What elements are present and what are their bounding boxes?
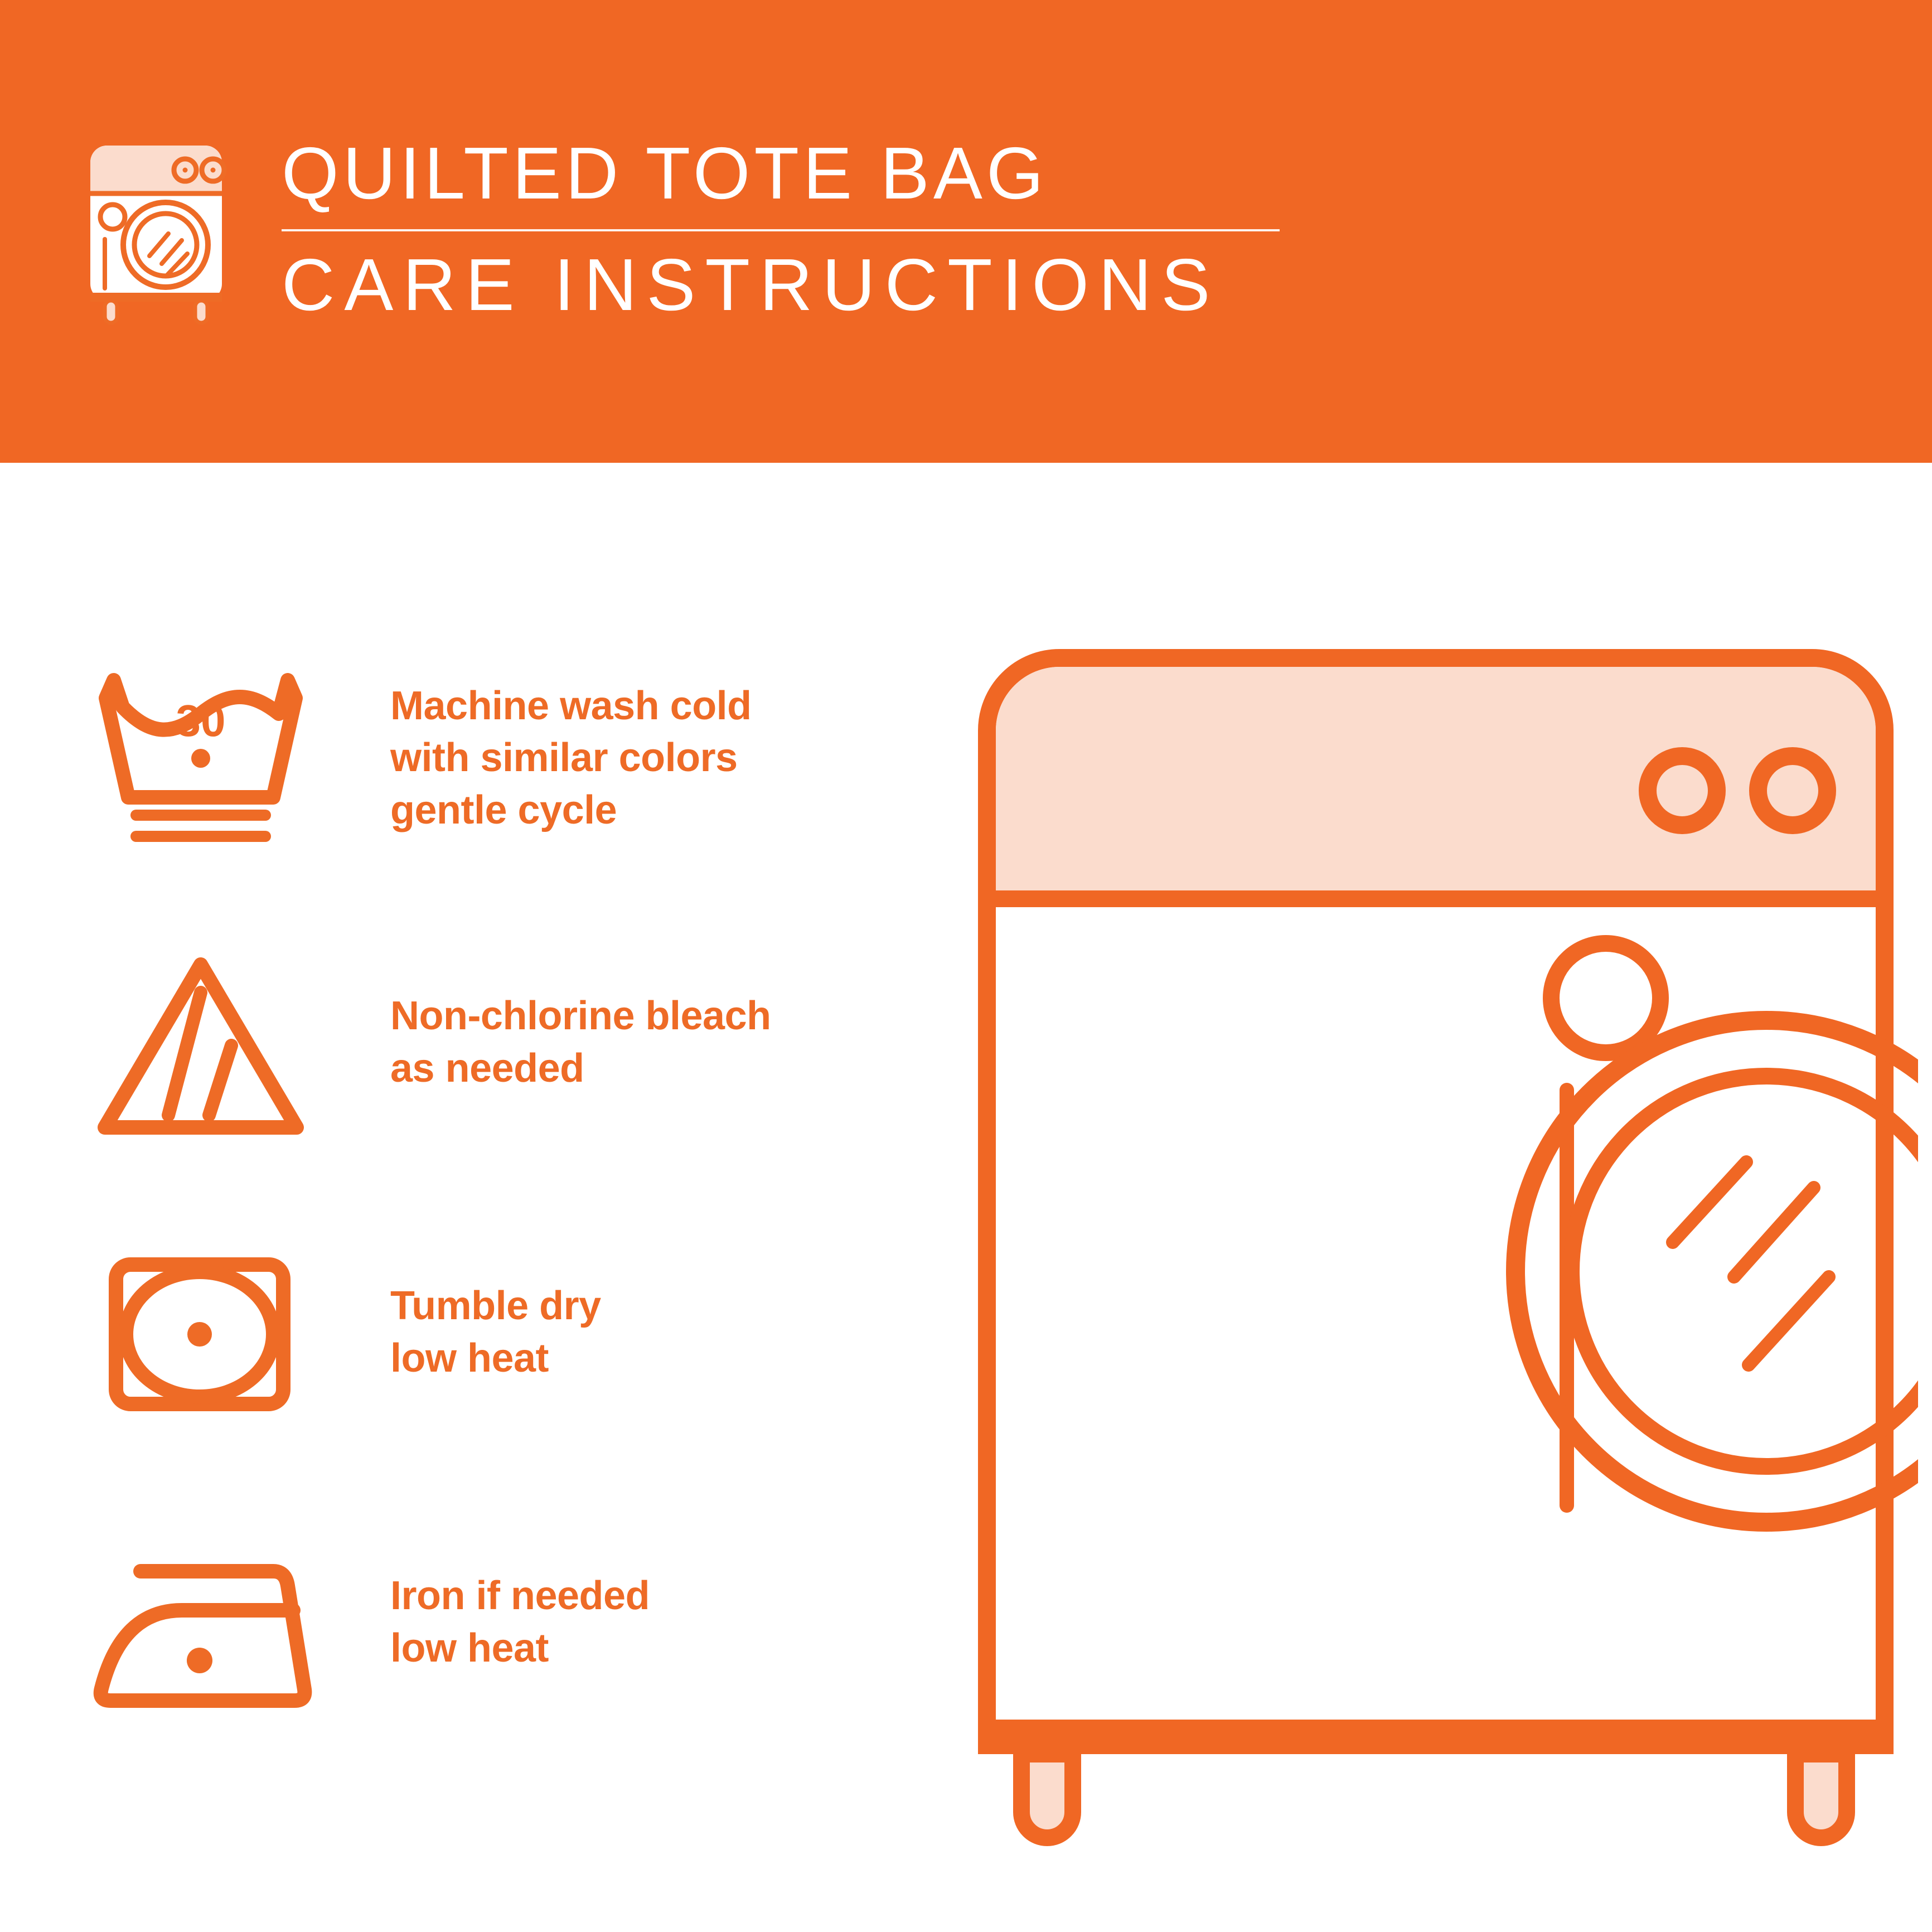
non-chlorine-bleach-triangle-icon [89, 931, 312, 1154]
care-line: gentle cycle [390, 785, 920, 837]
care-line: with similar colors [390, 732, 920, 785]
care-line: as needed [390, 1043, 920, 1095]
page-title-primary: QUILTED TOTE BAG [282, 137, 1341, 210]
care-instructions-page: QUILTED TOTE BAG CARE INSTRUCTIONS 30 Ma… [0, 0, 1932, 1932]
iron-low-heat-icon [89, 1511, 312, 1734]
page-title-secondary: CARE INSTRUCTIONS [282, 248, 1341, 322]
care-line: Machine wash cold [390, 680, 920, 733]
care-label-wash: Machine wash cold with similar colors ge… [390, 647, 920, 870]
care-instruction-list: 30 Machine wash cold with similar colors… [0, 463, 948, 1932]
care-line: Tumble dry [390, 1280, 920, 1333]
washing-machine-illustration [948, 613, 1918, 1896]
care-line: Non-chlorine bleach [390, 990, 920, 1043]
header-banner: QUILTED TOTE BAG CARE INSTRUCTIONS [0, 0, 1932, 463]
header-title-block: QUILTED TOTE BAG CARE INSTRUCTIONS [282, 137, 1341, 322]
care-line: low heat [390, 1623, 920, 1675]
care-row-tumble-dry: Tumble dry low heat [0, 1221, 948, 1444]
care-row-iron: Iron if needed low heat [0, 1511, 948, 1734]
control-panel [996, 667, 1876, 897]
wash-basin-30-gentle-icon: 30 [89, 647, 312, 870]
care-label-tumble-dry: Tumble dry low heat [390, 1221, 920, 1444]
tumble-dry-low-icon [89, 1221, 312, 1444]
wash-temp-value: 30 [176, 696, 226, 745]
care-row-wash: 30 Machine wash cold with similar colors… [0, 647, 948, 870]
washing-machine-icon [84, 135, 229, 325]
care-label-iron: Iron if needed low heat [390, 1511, 920, 1734]
base-bar [978, 1723, 1894, 1754]
care-row-bleach: Non-chlorine bleach as needed [0, 931, 948, 1154]
care-label-bleach: Non-chlorine bleach as needed [390, 931, 920, 1154]
care-line: Iron if needed [390, 1570, 920, 1623]
leg-left [1021, 1754, 1073, 1838]
leg-right [1795, 1754, 1847, 1838]
title-divider [282, 229, 1280, 231]
care-line: low heat [390, 1333, 920, 1385]
